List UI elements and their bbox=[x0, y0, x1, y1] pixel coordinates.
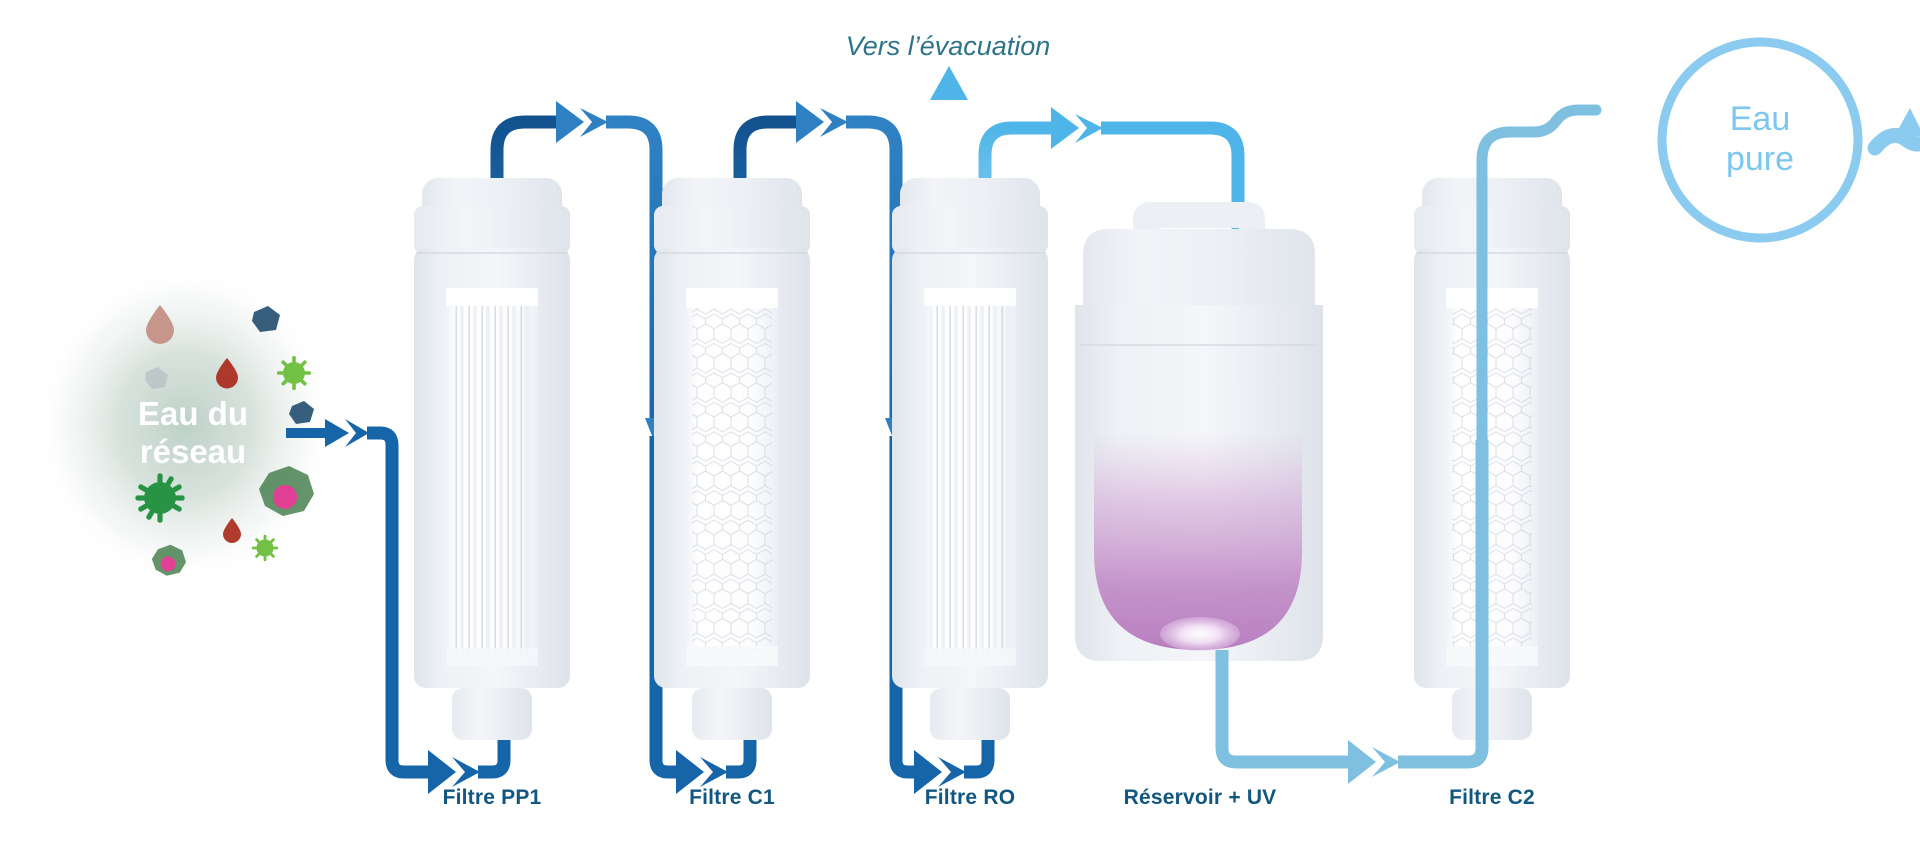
drain-title: Vers l’évacuation bbox=[846, 31, 1051, 61]
filter-label: Filtre C1 bbox=[689, 786, 775, 809]
filter-collar bbox=[654, 206, 810, 254]
arrow-notch-icon bbox=[820, 108, 848, 137]
filters-row: Filtre PP1 Filtre C1 Filtre RO bbox=[414, 178, 1570, 809]
filter-bottom-nub bbox=[692, 688, 772, 740]
core-bottom-fade bbox=[446, 648, 538, 666]
arrow-notch-icon bbox=[700, 757, 728, 787]
filter-label: Filtre RO bbox=[925, 786, 1015, 809]
arrow-notch-icon bbox=[1372, 747, 1400, 777]
water-filtration-diagram: Eau du réseau bbox=[0, 0, 1920, 858]
filter-label: Filtre PP1 bbox=[443, 786, 542, 809]
germ-icon bbox=[252, 535, 279, 562]
arrow-notch-icon bbox=[452, 757, 480, 787]
filter-collar bbox=[892, 206, 1048, 254]
pipe-c1-downcomer bbox=[606, 122, 656, 420]
honeycomb-media bbox=[1452, 306, 1532, 654]
pipe-ro-downcomer bbox=[846, 122, 896, 420]
filter-bottom-nub bbox=[452, 688, 532, 740]
source-label-line1: Eau du bbox=[138, 395, 248, 432]
arrow-head-icon bbox=[1051, 107, 1079, 149]
core-bottom-fade bbox=[686, 646, 778, 666]
pure-water-badge[interactable]: Eau pure bbox=[1662, 42, 1858, 238]
honeycomb-media bbox=[692, 306, 772, 654]
pure-water-label-line2: pure bbox=[1726, 140, 1794, 178]
filter-collar bbox=[414, 206, 570, 254]
core-bottom-fade bbox=[924, 648, 1016, 666]
pure-water-outflow-arrow bbox=[1875, 108, 1920, 148]
pure-water-label-line1: Eau bbox=[1730, 100, 1791, 138]
germ-icon bbox=[277, 356, 311, 390]
pipe-tank-outlet bbox=[1222, 650, 1352, 762]
uv-lamp-glow bbox=[1160, 617, 1240, 651]
diagram-canvas: Eau du réseau bbox=[0, 0, 1920, 858]
filter-label: Filtre C2 bbox=[1449, 786, 1535, 809]
filter-collar bbox=[1414, 206, 1570, 254]
arrow-head-icon bbox=[556, 101, 584, 143]
core-top-fade bbox=[1446, 288, 1538, 308]
source-label-line2: réseau bbox=[140, 433, 246, 470]
reservoir-uv[interactable]: Réservoir + UV bbox=[1075, 202, 1323, 809]
tank-cap bbox=[1083, 229, 1315, 305]
filter-c1[interactable]: Filtre C1 bbox=[654, 178, 810, 809]
arrow-head-icon bbox=[796, 101, 824, 143]
filter-c2[interactable]: Filtre C2 bbox=[1414, 178, 1570, 809]
arrow-notch-icon bbox=[938, 757, 966, 787]
filter-label: Réservoir + UV bbox=[1124, 786, 1277, 809]
arrow-notch-icon bbox=[1075, 114, 1103, 143]
filter-bottom-nub bbox=[930, 688, 1010, 740]
arrow-head-icon bbox=[930, 66, 968, 100]
arrow-head-icon bbox=[1894, 108, 1920, 137]
filter-ro[interactable]: Filtre RO bbox=[892, 178, 1048, 809]
filter-pp1[interactable]: Filtre PP1 bbox=[414, 178, 570, 809]
core-top-fade bbox=[686, 288, 778, 308]
filter-bottom-nub bbox=[1452, 688, 1532, 740]
core-top-fade bbox=[924, 288, 1016, 306]
core-top-fade bbox=[446, 288, 538, 306]
pleated-media bbox=[930, 300, 1010, 656]
arrow-head-icon bbox=[1348, 740, 1376, 784]
core-bottom-fade bbox=[1446, 646, 1538, 666]
pleated-media bbox=[452, 300, 532, 656]
source-water-group: Eau du réseau bbox=[35, 265, 335, 585]
arrow-notch-icon bbox=[580, 108, 608, 137]
